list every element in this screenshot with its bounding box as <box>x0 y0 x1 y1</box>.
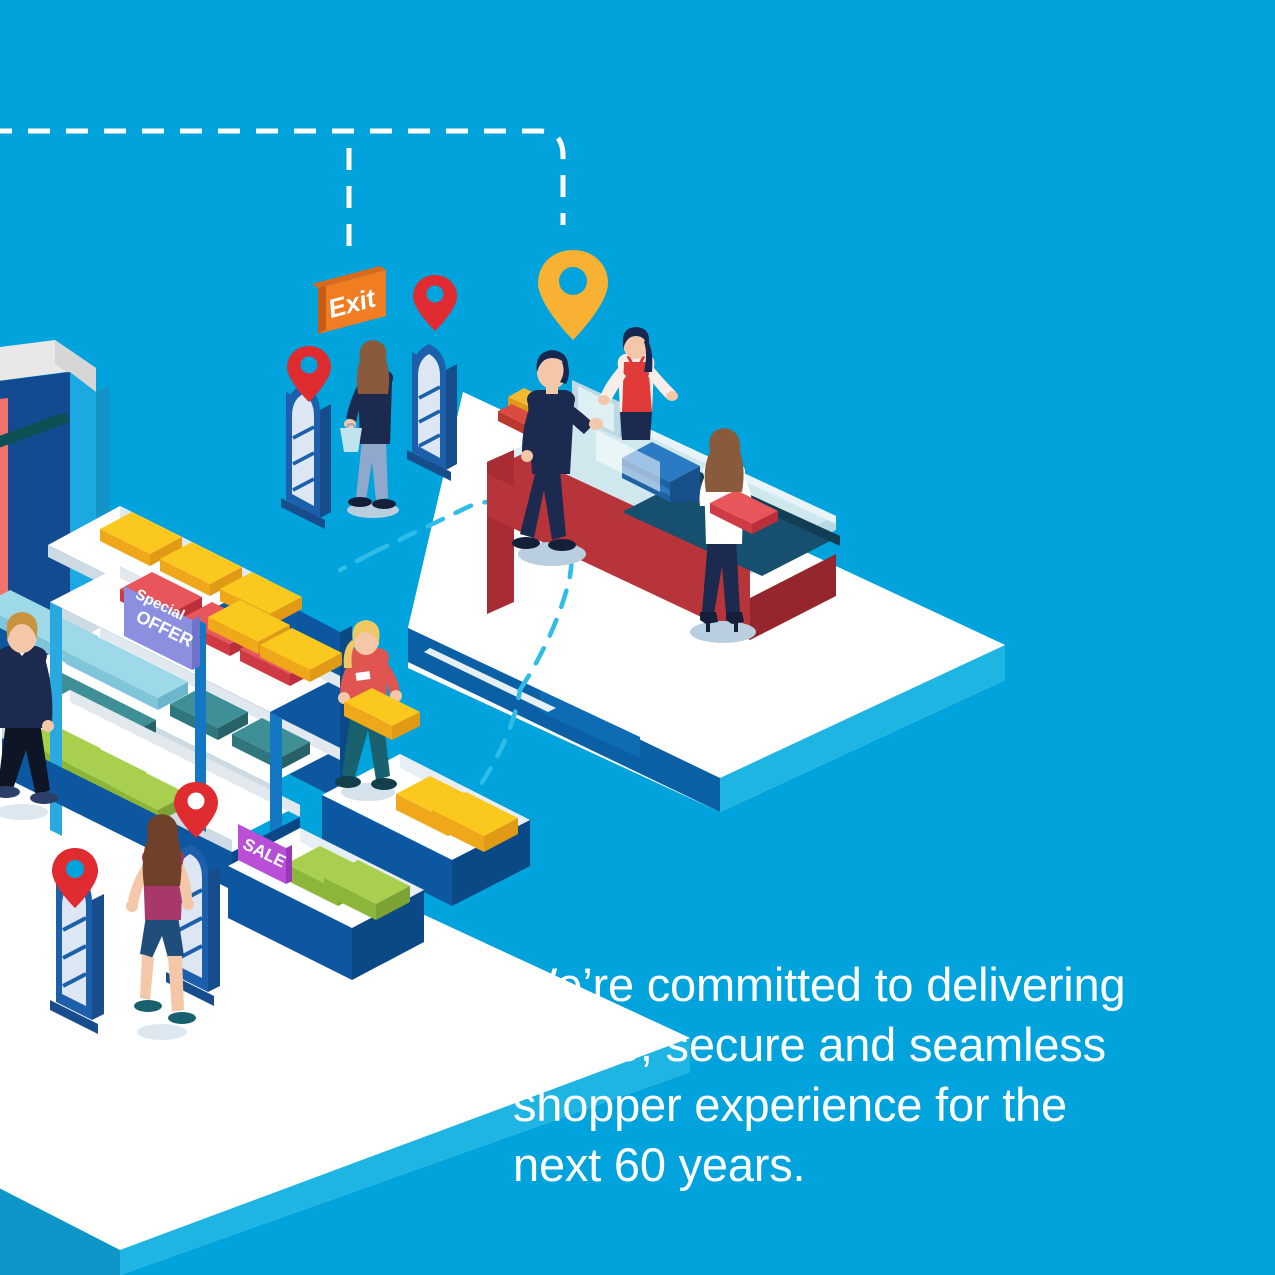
page-headline: We’re committed to delivering a safe, se… <box>513 955 1213 1195</box>
illustration-canvas: Special OFFER <box>0 0 1275 1275</box>
